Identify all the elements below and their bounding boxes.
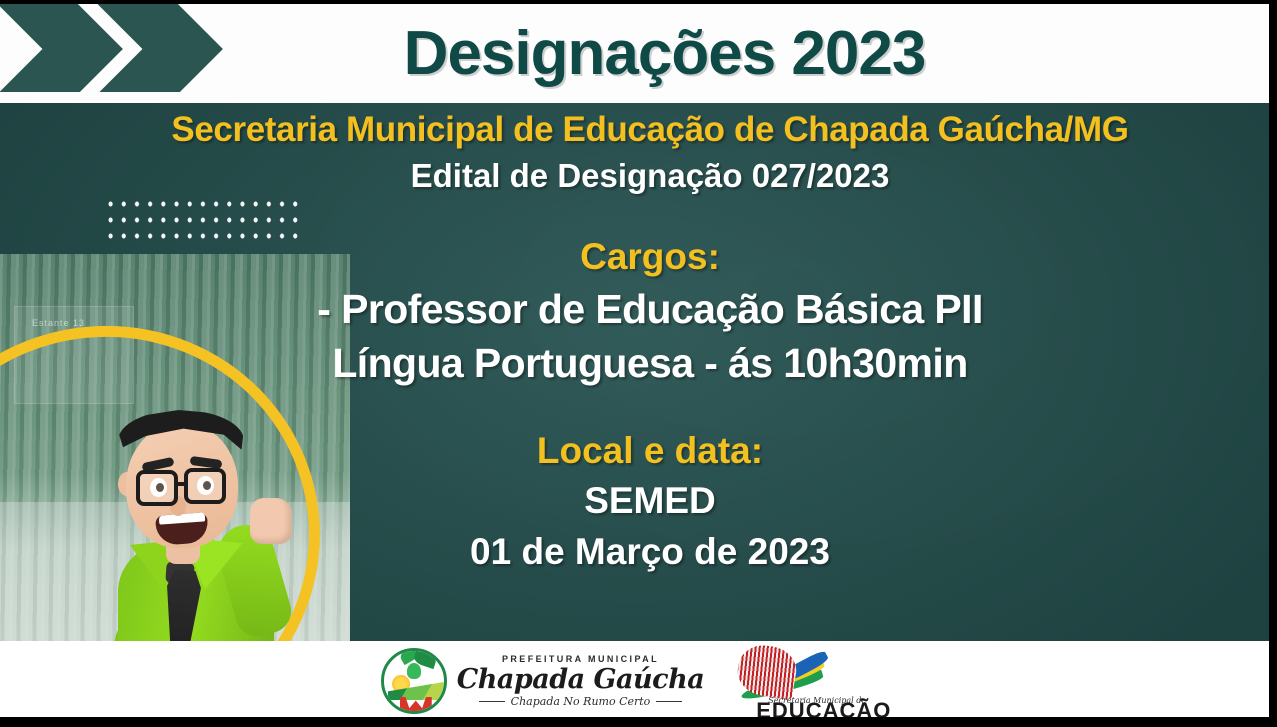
date-value: 01 de Março de 2023 bbox=[110, 526, 1190, 578]
slogan-rule-left bbox=[479, 701, 505, 702]
city-logo-prefix: PREFEITURA MUNICIPAL bbox=[502, 655, 659, 664]
poster-canvas: Estante 13 bbox=[0, 4, 1269, 717]
chapada-gaucha-emblem-icon bbox=[381, 648, 447, 714]
leaf-icon-3 bbox=[407, 663, 421, 679]
city-logo-slogan-row: Chapada No Rumo Certo bbox=[479, 696, 683, 707]
logo-row: PREFEITURA MUNICIPAL Chapada Gaúcha Chap… bbox=[0, 641, 1269, 717]
city-logo-slogan: Chapada No Rumo Certo bbox=[511, 696, 651, 707]
header-band: Designações 2023 bbox=[0, 4, 1269, 103]
chapada-gaucha-wordmark: PREFEITURA MUNICIPAL Chapada Gaúcha Chap… bbox=[457, 655, 705, 707]
spacer-one bbox=[110, 198, 1190, 232]
cargos-label: Cargos: bbox=[110, 232, 1190, 282]
cargo-line-one: - Professor de Educação Básica PII bbox=[110, 282, 1190, 336]
organization-line: Secretaria Municipal de Educação de Chap… bbox=[110, 108, 1190, 152]
poster-root: Estante 13 bbox=[0, 0, 1277, 727]
local-value: SEMED bbox=[110, 476, 1190, 526]
shelf-label: Estante 13 bbox=[32, 318, 85, 328]
local-label: Local e data: bbox=[110, 426, 1190, 476]
edital-line: Edital de Designação 027/2023 bbox=[110, 154, 1190, 198]
poster-text-block: Secretaria Municipal de Educação de Chap… bbox=[110, 108, 1190, 578]
education-logo-name: EDUCAÇÃO bbox=[756, 698, 891, 717]
cargo-line-two: Língua Portuguesa - ás 10h30min bbox=[110, 336, 1190, 390]
slogan-rule-right bbox=[656, 701, 682, 702]
educacao-logo: Secretaria Municipal de EDUCAÇÃO Chapada… bbox=[738, 646, 888, 716]
page-title: Designações 2023 bbox=[0, 4, 1269, 103]
frame-top-border bbox=[0, 0, 1277, 4]
frame-right-border bbox=[1269, 0, 1277, 727]
chapada-gaucha-logo: PREFEITURA MUNICIPAL Chapada Gaúcha Chap… bbox=[381, 648, 705, 714]
spacer-two bbox=[110, 390, 1190, 426]
city-logo-name: Chapada Gaúcha bbox=[457, 666, 705, 693]
frame-bottom-border bbox=[0, 720, 1277, 727]
